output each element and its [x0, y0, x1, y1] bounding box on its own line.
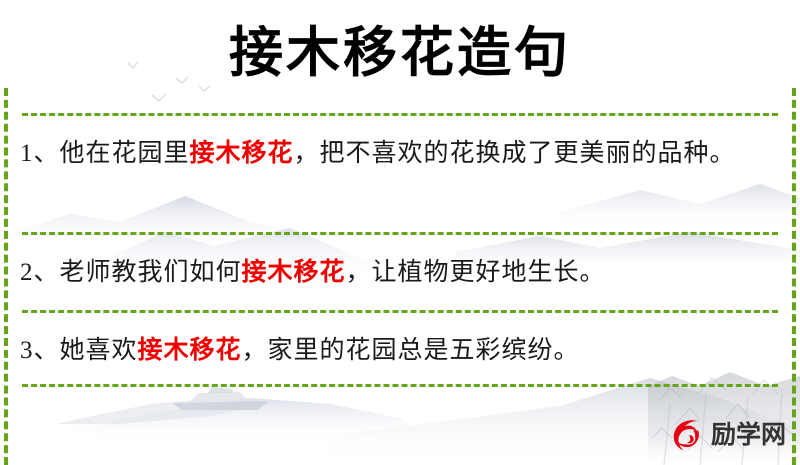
divider-1	[22, 232, 778, 235]
sentence-item-1: 1、他在花园里接木移花，把不喜欢的花换成了更美丽的品种。	[20, 134, 778, 174]
divider-top	[22, 113, 778, 116]
boat-silhouette	[172, 387, 268, 410]
sentence-after-1: ，把不喜欢的花换成了更美丽的品种。	[294, 140, 736, 167]
sentence-marker-2: 2、	[20, 259, 60, 286]
sentence-keyword-3: 接木移花	[138, 337, 242, 364]
logo-text: 励学网	[711, 423, 786, 448]
sentence-item-3: 3、她喜欢接木移花，家里的花园总是五彩缤纷。	[20, 331, 778, 371]
divider-bottom	[22, 384, 778, 387]
red-swirl-flame-icon	[670, 417, 706, 453]
sentence-after-3: ，家里的花园总是五彩缤纷。	[242, 337, 580, 364]
sentence-item-2: 2、老师教我们如何接木移花，让植物更好地生长。	[20, 253, 778, 293]
frame-border-left	[4, 88, 8, 465]
site-logo[interactable]: 励学网	[670, 417, 786, 453]
sentence-after-2: ，让植物更好地生长。	[346, 259, 606, 286]
sentence-before-2: 老师教我们如何	[60, 259, 242, 286]
divider-2	[22, 310, 778, 313]
sentence-marker-3: 3、	[20, 337, 60, 364]
sentence-before-1: 他在花园里	[60, 140, 190, 167]
sentence-marker-1: 1、	[20, 140, 60, 167]
page-root: 接木移花造句 1、他在花园里接木移花，把不喜欢的花换成了更美丽的品种。 2、老师…	[0, 0, 800, 465]
sentence-keyword-2: 接木移花	[242, 259, 346, 286]
sentence-before-3: 她喜欢	[60, 337, 138, 364]
page-title: 接木移花造句	[0, 22, 800, 84]
sentence-keyword-1: 接木移花	[190, 140, 294, 167]
frame-border-right	[792, 88, 796, 465]
